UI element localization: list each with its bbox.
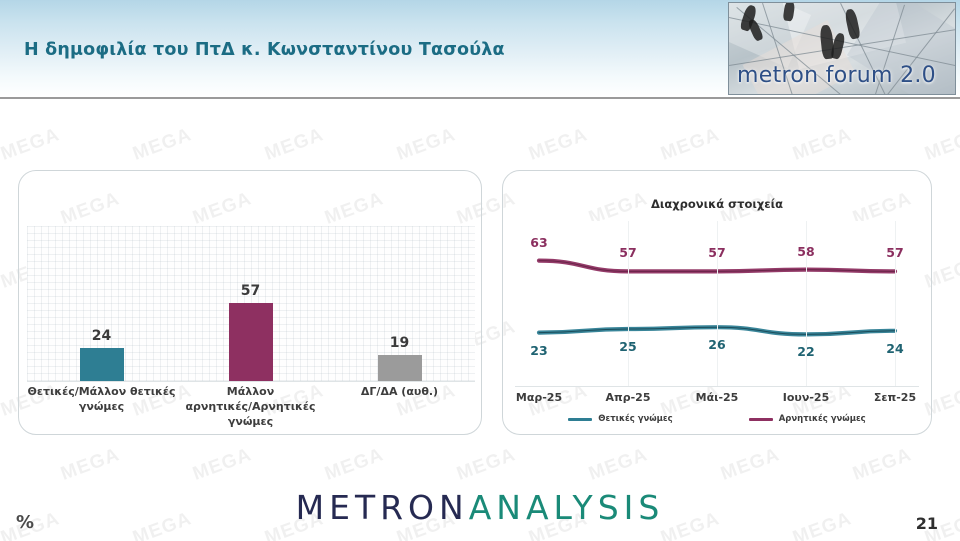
bar-rect (80, 348, 124, 381)
line-x-label: Μαρ-25 (516, 391, 562, 404)
legend-item[interactable]: Αρνητικές γνώμες (749, 414, 866, 424)
bar-category-line: αρνητικές/Αρνητικές γνώμες (171, 399, 331, 429)
bar-value-label: 24 (92, 328, 111, 344)
metron-forum-logo: metron forum 2.0 (728, 2, 956, 95)
line-chart-x-labels: Μαρ-25Απρ-25Μάι-25Ιουν-25Σεπ-25 (515, 391, 919, 409)
page-number: 21 (916, 514, 938, 533)
watermark-text: MEGA (58, 444, 123, 486)
brand-part-two: ANALYSIS (469, 488, 665, 527)
line-point-label: 24 (886, 341, 903, 356)
bar-value-label: 57 (241, 283, 260, 299)
bar-category-line: γνώμες (22, 399, 182, 414)
bar-category-line: Μάλλον (171, 384, 331, 399)
logo-wordmark: metron forum 2.0 (737, 63, 936, 88)
watermark-text: MEGA (586, 444, 651, 486)
bar-category-label: Θετικές/Μάλλον θετικέςγνώμες (22, 384, 182, 414)
line-x-label: Μάι-25 (696, 391, 739, 404)
line-point-label: 22 (797, 344, 814, 359)
bar-category-label: Μάλλοναρνητικές/Αρνητικές γνώμες (171, 384, 331, 429)
legend-swatch (568, 418, 592, 421)
watermark-text: MEGA (790, 124, 855, 166)
bar-rect (378, 355, 422, 381)
line-x-label: Ιουν-25 (783, 391, 829, 404)
watermark-text: MEGA (190, 444, 255, 486)
bar-chart-card: 245719 Θετικές/Μάλλον θετικέςγνώμεςΜάλλο… (18, 170, 482, 435)
line-point-label: 23 (530, 343, 547, 358)
line-point-label: 57 (886, 245, 903, 260)
line-chart-card: Διαχρονικά στοιχεία 23252622246357575857… (502, 170, 932, 435)
watermark-text: MEGA (526, 124, 591, 166)
legend-label: Θετικές γνώμες (598, 414, 672, 424)
line-chart-title: Διαχρονικά στοιχεία (503, 197, 931, 211)
bar-chart-plot-area: 245719 (27, 226, 475, 382)
bar-column: 24 (27, 226, 176, 381)
line-chart-plot-area: 23252622246357575857 (515, 221, 919, 387)
bar-value-label: 19 (390, 335, 409, 351)
page-title: Η δημοφιλία του ΠτΔ κ. Κωνσταντίνου Τασο… (24, 40, 505, 60)
legend-swatch (749, 418, 773, 421)
watermark-text: MEGA (322, 444, 387, 486)
bar-category-label: ΔΓ/ΔΑ (αυθ.) (320, 384, 480, 399)
bar-chart-category-labels: Θετικές/Μάλλον θετικέςγνώμεςΜάλλοναρνητι… (27, 384, 475, 426)
watermark-text: MEGA (394, 124, 459, 166)
watermark-text: MEGA (454, 444, 519, 486)
brand-part-one: METRON (296, 488, 469, 527)
bar-category-line: ΔΓ/ΔΑ (αυθ.) (320, 384, 480, 399)
bar-column: 57 (176, 226, 325, 381)
watermark-text: MEGA (658, 124, 723, 166)
watermark-text: MEGA (718, 444, 783, 486)
line-point-label: 26 (708, 337, 725, 352)
legend-item[interactable]: Θετικές γνώμες (568, 414, 672, 424)
line-point-label: 57 (708, 245, 725, 260)
bar-rect (229, 303, 273, 381)
watermark-text: MEGA (850, 444, 915, 486)
metron-analysis-brand: METRONANALYSIS (0, 488, 960, 527)
watermark-text: MEGA (922, 124, 960, 166)
bar-category-line: Θετικές/Μάλλον θετικές (22, 384, 182, 399)
line-point-label: 57 (619, 245, 636, 260)
line-x-label: Σεπ-25 (874, 391, 916, 404)
line-point-label: 58 (797, 244, 814, 259)
line-point-label: 25 (619, 339, 636, 354)
slide-header: Η δημοφιλία του ΠτΔ κ. Κωνσταντίνου Τασο… (0, 0, 960, 99)
legend-label: Αρνητικές γνώμες (779, 414, 866, 424)
line-x-label: Απρ-25 (606, 391, 651, 404)
line-chart-legend: Θετικές γνώμεςΑρνητικές γνώμες (503, 414, 931, 424)
line-point-label: 63 (530, 235, 547, 250)
watermark-text: MEGA (0, 124, 63, 166)
bar-column: 19 (325, 226, 474, 381)
watermark-text: MEGA (130, 124, 195, 166)
watermark-text: MEGA (262, 124, 327, 166)
